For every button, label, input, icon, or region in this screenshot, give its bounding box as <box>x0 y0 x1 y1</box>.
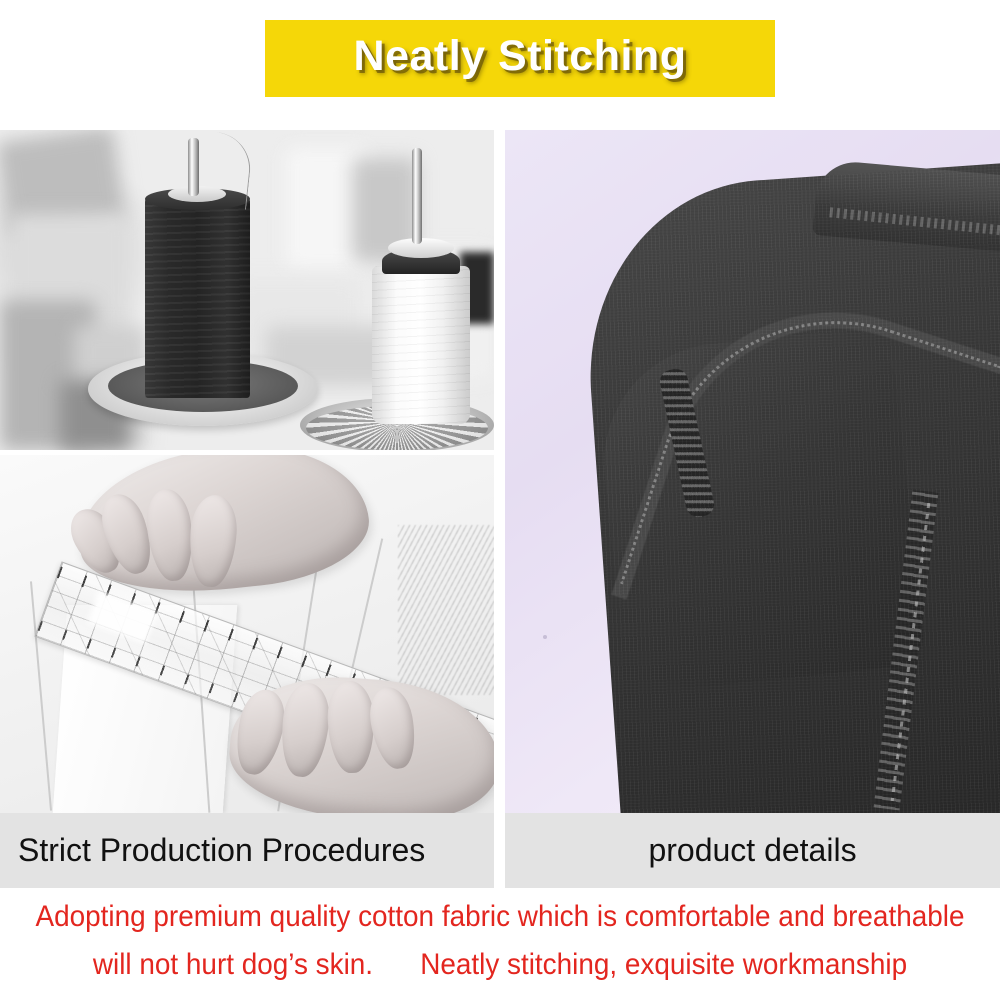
photo-panel-grid <box>0 130 1000 888</box>
white-thread-spool <box>372 266 470 424</box>
dark-thread-spool <box>145 198 250 398</box>
left-photo-column <box>0 130 494 888</box>
right-caption-text: product details <box>648 832 856 869</box>
page-title: Neatly Stitching <box>354 35 687 82</box>
fabric-edge-texture <box>398 525 494 695</box>
title-banner: Neatly Stitching <box>265 20 775 97</box>
right-photo-column <box>505 130 1000 888</box>
garment-detail-photo <box>505 130 1000 813</box>
marketing-copy-block: Adopting premium quality cotton fabric w… <box>0 893 1000 989</box>
pattern-measuring-photo <box>0 455 494 813</box>
right-caption-strip: product details <box>505 813 1000 888</box>
left-caption-text: Strict Production Procedures <box>18 832 425 869</box>
marketing-copy-line-2: will not hurt dog’s skin. Neatly stitchi… <box>35 941 965 989</box>
thread-strand <box>209 132 254 209</box>
marketing-copy-line-2-part-1: will not hurt dog’s skin. <box>93 948 373 981</box>
spool-pin-right <box>412 148 422 244</box>
marketing-copy-line-1: Adopting premium quality cotton fabric w… <box>35 893 965 941</box>
spool-pin-left <box>188 138 199 196</box>
background-speck <box>543 635 547 639</box>
thread-spools-photo <box>0 130 494 450</box>
marketing-copy-line-2-part-2: Neatly stitching, exquisite workmanship <box>420 948 907 981</box>
left-caption-strip: Strict Production Procedures <box>0 813 494 888</box>
